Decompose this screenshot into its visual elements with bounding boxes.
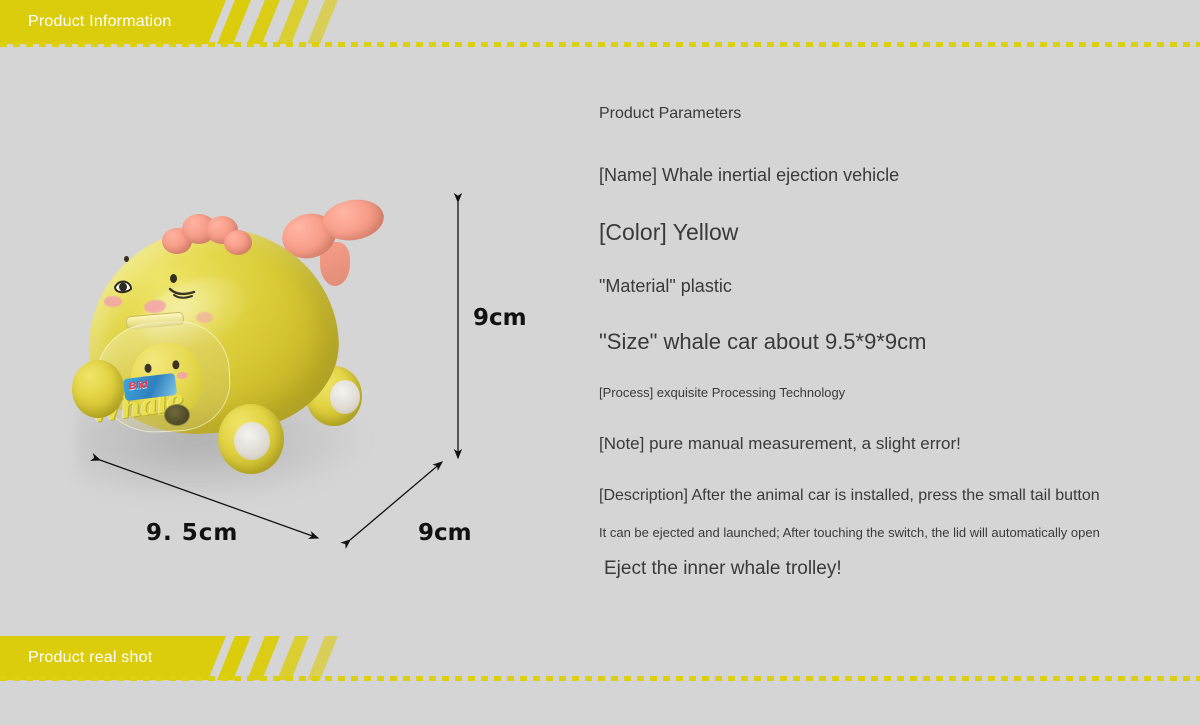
- banner-dashed-rule-top: [0, 42, 1200, 47]
- banner-label-product-real-shot: Product real shot: [28, 636, 152, 680]
- parameters-heading: Product Parameters: [599, 105, 1159, 123]
- banner-stripe: [275, 636, 312, 680]
- dimension-arrows: [60, 170, 560, 570]
- parameter-name: [Name] Whale inertial ejection vehicle: [599, 165, 1159, 186]
- banner-stripe: [305, 0, 341, 44]
- banner-label-product-information: Product Information: [28, 0, 171, 44]
- banner-stripe: [245, 636, 283, 680]
- parameter-description-1: [Description] After the animal car is in…: [599, 487, 1159, 505]
- product-photo-pane: Whale Blid 9cm 9. 5cm 9cm: [60, 170, 560, 570]
- section-banner-product-real-shot: Product real shot: [0, 636, 1200, 680]
- parameter-process: [Process] exquisite Processing Technolog…: [599, 385, 1159, 400]
- banner-stripes: [208, 0, 398, 44]
- parameter-size: "Size" whale car about 9.5*9*9cm: [599, 329, 1159, 355]
- parameter-description-3: Eject the inner whale trolley!: [599, 558, 1159, 580]
- banner-stripe: [305, 636, 341, 680]
- section-banner-product-information: Product Information: [0, 0, 1200, 44]
- banner-stripe: [215, 636, 254, 680]
- banner-dashed-rule-bottom: [0, 676, 1200, 681]
- banner-stripe: [215, 0, 254, 44]
- banner-stripe: [245, 0, 283, 44]
- dimension-label-depth: 9cm: [418, 520, 472, 546]
- dimension-label-height: 9cm: [473, 305, 527, 331]
- parameter-description-2: It can be ejected and launched; After to…: [599, 525, 1159, 540]
- parameter-note: [Note] pure manual measurement, a slight…: [599, 434, 1159, 454]
- parameter-color: [Color] Yellow: [599, 219, 1159, 246]
- dimension-label-width: 9. 5cm: [146, 520, 238, 546]
- product-parameters-panel: Product Parameters [Name] Whale inertial…: [599, 105, 1159, 580]
- parameter-material: "Material" plastic: [599, 276, 1159, 297]
- banner-stripes: [208, 636, 398, 680]
- banner-stripe: [275, 0, 312, 44]
